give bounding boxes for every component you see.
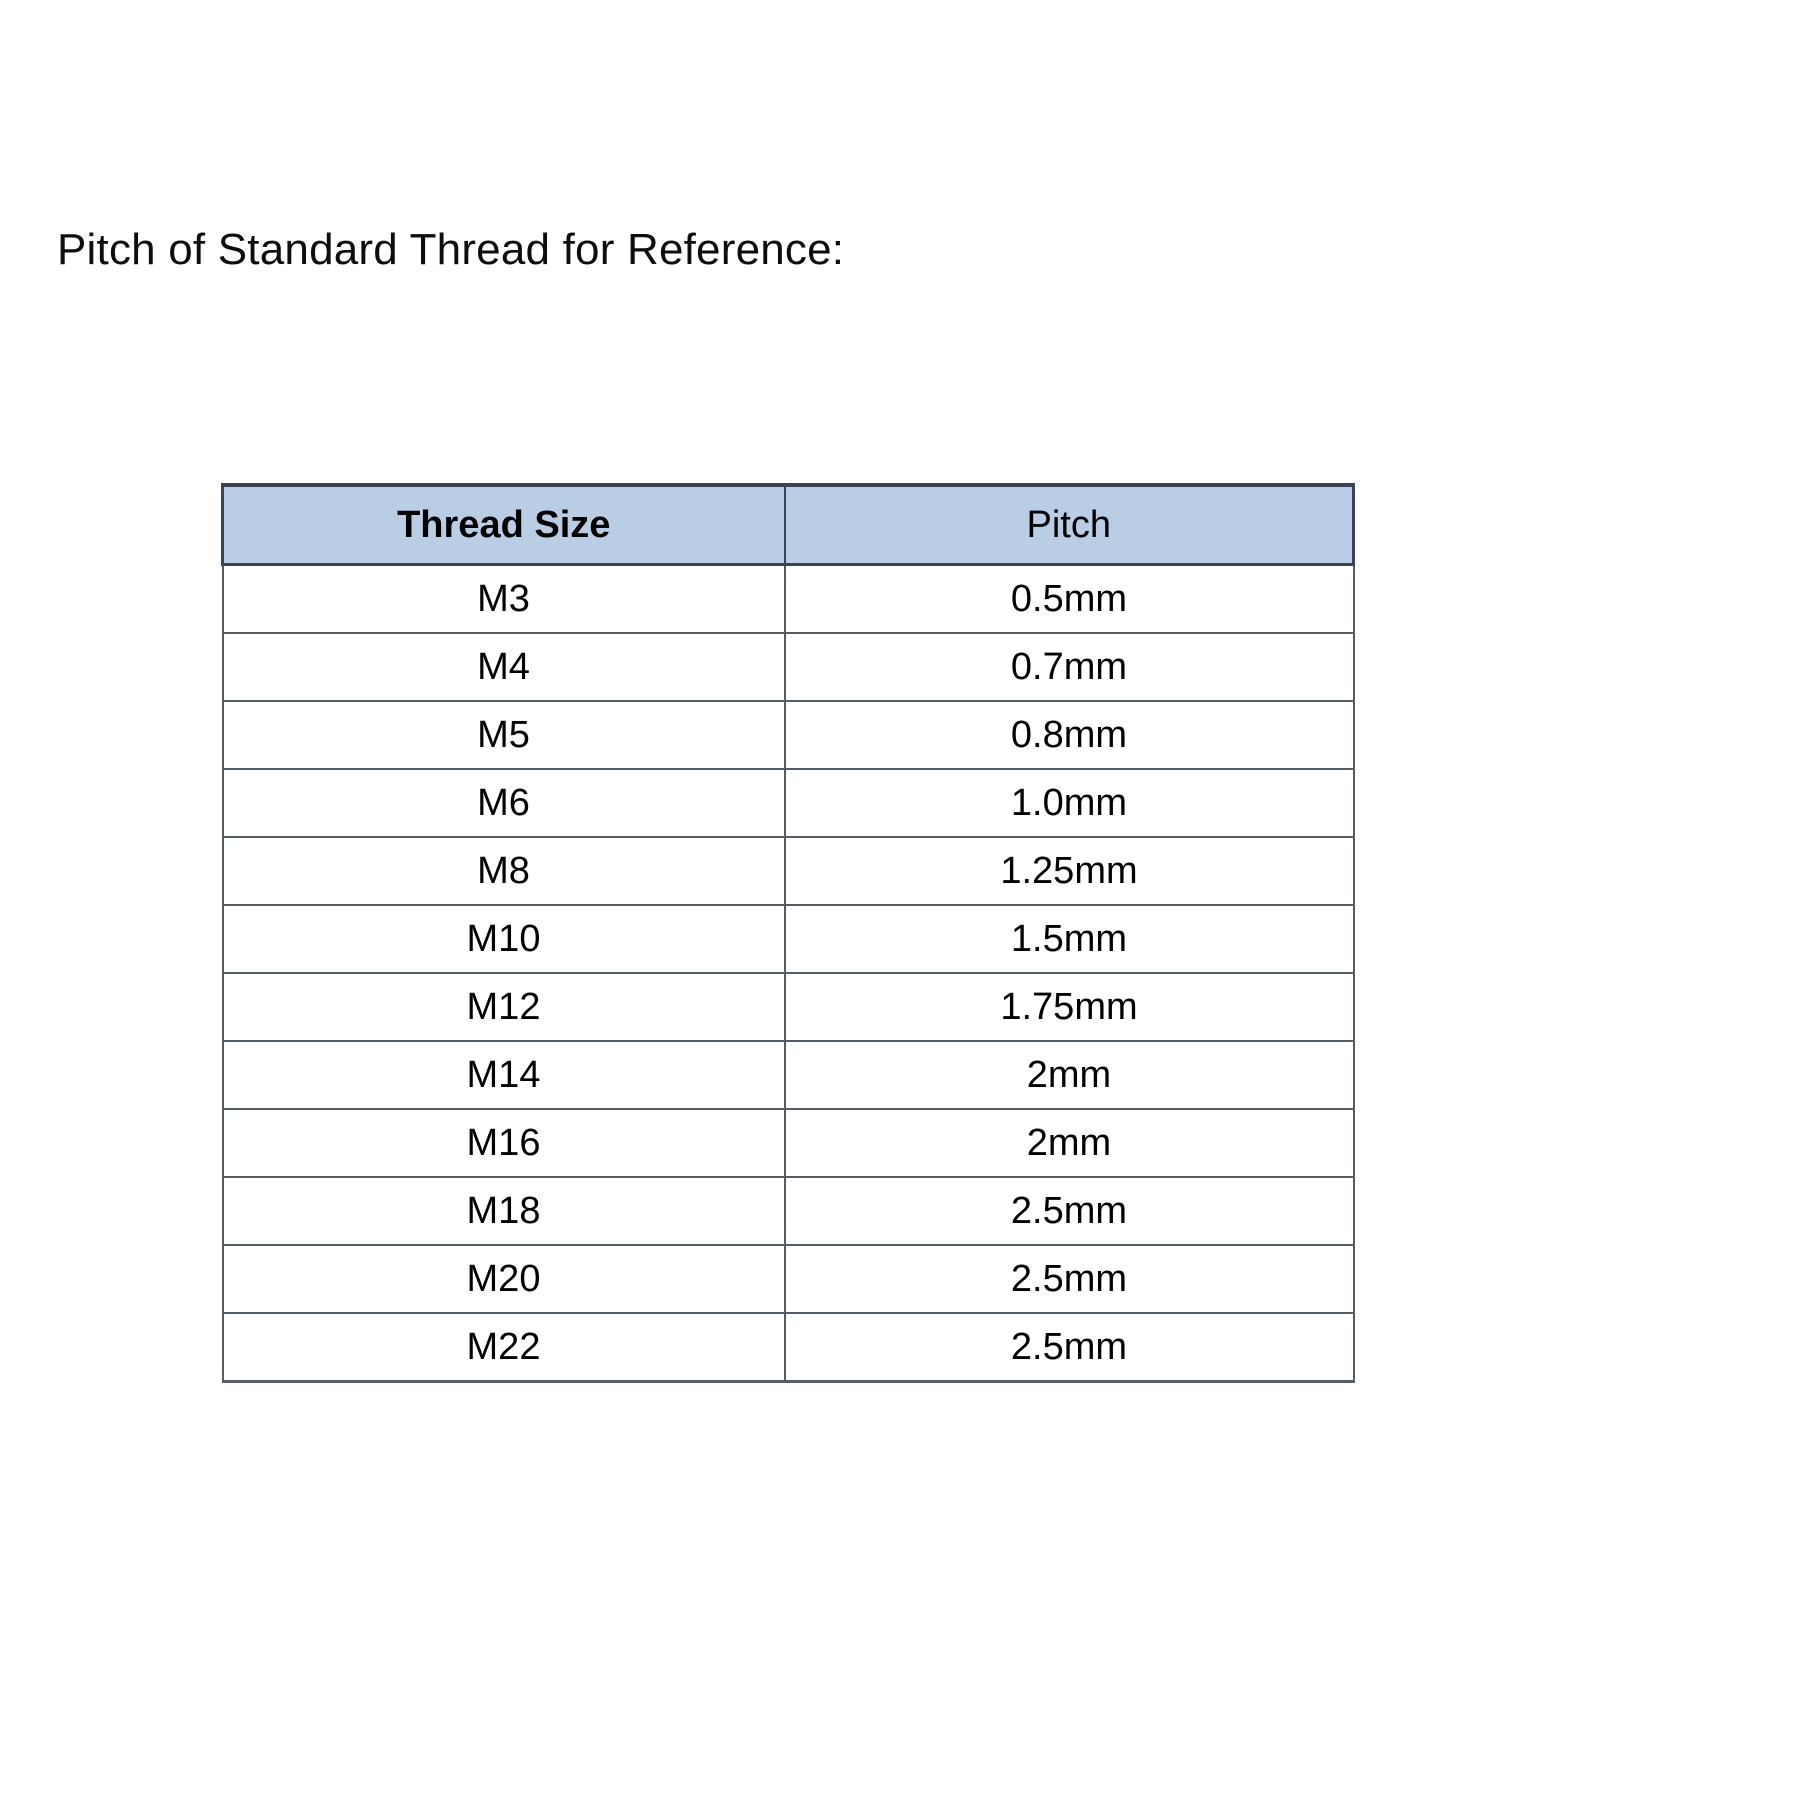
table-row: M18 2.5mm xyxy=(223,1177,1354,1245)
page-title: Pitch of Standard Thread for Reference: xyxy=(57,222,844,278)
cell-pitch: 1.5mm xyxy=(785,905,1354,973)
table-row: M5 0.8mm xyxy=(223,701,1354,769)
table-row: M20 2.5mm xyxy=(223,1245,1354,1313)
cell-pitch: 1.0mm xyxy=(785,769,1354,837)
cell-thread-size: M6 xyxy=(223,769,785,837)
cell-pitch: 2.5mm xyxy=(785,1245,1354,1313)
table-row: M12 1.75mm xyxy=(223,973,1354,1041)
cell-pitch: 1.25mm xyxy=(785,837,1354,905)
column-header-thread-size: Thread Size xyxy=(223,485,785,565)
thread-pitch-table-container: Thread Size Pitch M3 0.5mm M4 0.7mm M5 0… xyxy=(221,483,1352,1383)
standard-thread-pitch-table: Thread Size Pitch M3 0.5mm M4 0.7mm M5 0… xyxy=(221,483,1355,1383)
table-header: Thread Size Pitch xyxy=(223,485,1354,565)
cell-pitch: 0.7mm xyxy=(785,633,1354,701)
cell-thread-size: M10 xyxy=(223,905,785,973)
table-row: M8 1.25mm xyxy=(223,837,1354,905)
cell-thread-size: M16 xyxy=(223,1109,785,1177)
table-row: M14 2mm xyxy=(223,1041,1354,1109)
cell-thread-size: M14 xyxy=(223,1041,785,1109)
cell-thread-size: M22 xyxy=(223,1313,785,1382)
cell-thread-size: M20 xyxy=(223,1245,785,1313)
cell-pitch: 2mm xyxy=(785,1109,1354,1177)
table-row: M4 0.7mm xyxy=(223,633,1354,701)
cell-pitch: 2.5mm xyxy=(785,1177,1354,1245)
cell-pitch: 0.5mm xyxy=(785,565,1354,634)
cell-thread-size: M8 xyxy=(223,837,785,905)
cell-thread-size: M12 xyxy=(223,973,785,1041)
cell-pitch: 2mm xyxy=(785,1041,1354,1109)
table-row: M3 0.5mm xyxy=(223,565,1354,634)
cell-thread-size: M4 xyxy=(223,633,785,701)
cell-thread-size: M18 xyxy=(223,1177,785,1245)
table-header-row: Thread Size Pitch xyxy=(223,485,1354,565)
table-row: M22 2.5mm xyxy=(223,1313,1354,1382)
cell-thread-size: M3 xyxy=(223,565,785,634)
cell-thread-size: M5 xyxy=(223,701,785,769)
column-header-pitch: Pitch xyxy=(785,485,1354,565)
table-row: M6 1.0mm xyxy=(223,769,1354,837)
cell-pitch: 2.5mm xyxy=(785,1313,1354,1382)
cell-pitch: 0.8mm xyxy=(785,701,1354,769)
cell-pitch: 1.75mm xyxy=(785,973,1354,1041)
page-root: Pitch of Standard Thread for Reference: … xyxy=(0,0,1800,1800)
table-body: M3 0.5mm M4 0.7mm M5 0.8mm M6 1.0mm M8 xyxy=(223,565,1354,1382)
table-row: M10 1.5mm xyxy=(223,905,1354,973)
table-row: M16 2mm xyxy=(223,1109,1354,1177)
